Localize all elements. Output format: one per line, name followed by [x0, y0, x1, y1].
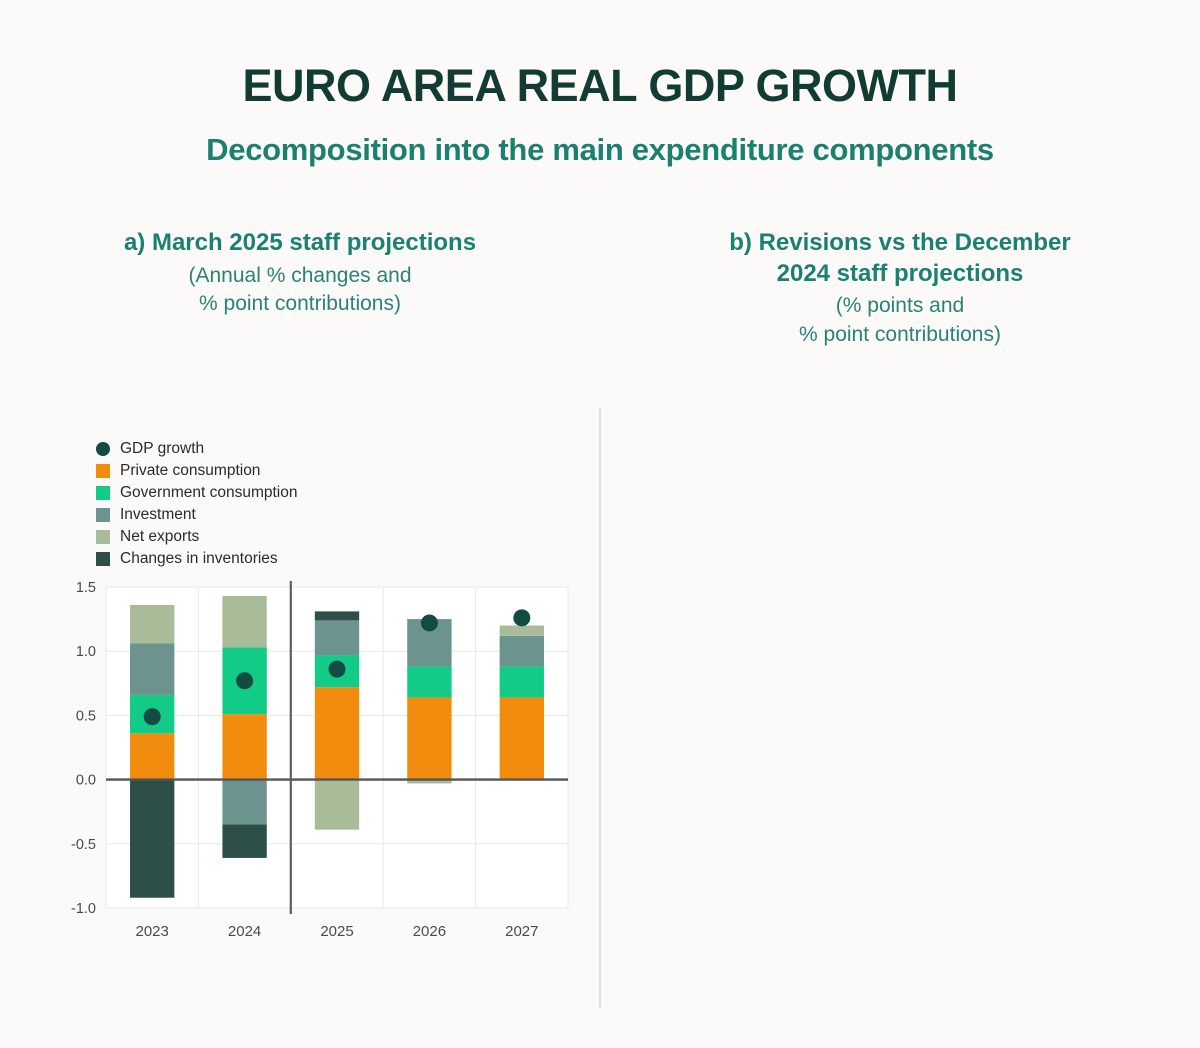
legend-item-label: Government consumption [120, 484, 297, 502]
bar-segment [500, 697, 544, 779]
panel-a: a) March 2025 staff projections (Annual … [0, 0, 600, 1048]
panel-b-subtitle-line2: % point contributions) [600, 321, 1200, 349]
panel-b-title: b) Revisions vs the December 2024 staff … [600, 228, 1200, 289]
bar-segment [130, 733, 174, 779]
legend-square-icon [96, 552, 110, 566]
x-axis-tick-label: 2027 [505, 923, 538, 940]
bar-segment [500, 636, 544, 667]
legend-panel-a: GDP growthPrivate consumptionGovernment … [96, 438, 297, 570]
legend-item-label: Changes in inventories [120, 550, 278, 568]
panel-b-heading: b) Revisions vs the December 2024 staff … [600, 228, 1200, 349]
x-axis-tick-label: 2023 [136, 923, 169, 940]
infographic-root: EURO AREA REAL GDP GROWTH Decomposition … [0, 0, 1200, 1048]
bar-segment [315, 687, 359, 779]
bar-segment [315, 611, 359, 620]
legend-item-label: GDP growth [120, 440, 204, 458]
bar-segment [500, 626, 544, 636]
bar-segment [222, 714, 266, 779]
bar-segment [130, 643, 174, 694]
legend-item-label: Net exports [120, 528, 199, 546]
panel-a-subtitle-line2: % point contributions) [0, 290, 600, 318]
y-axis-tick-label: -1.0 [71, 901, 96, 917]
legend-square-icon [96, 464, 110, 478]
bar-segment [407, 667, 451, 698]
x-axis-tick-label: 2025 [320, 923, 353, 940]
x-axis-tick-label: 2024 [228, 923, 261, 940]
y-axis-tick-label: 0.5 [76, 708, 96, 724]
legend-item: Private consumption [96, 460, 297, 482]
bar-segment [222, 825, 266, 858]
bar-segment [130, 605, 174, 644]
panel-a-subtitle-line1: (Annual % changes and [0, 262, 600, 290]
panel-b-subtitle-line1: (% points and [600, 292, 1200, 320]
legend-square-icon [96, 486, 110, 500]
legend-item: Government consumption [96, 482, 297, 504]
legend-square-icon [96, 530, 110, 544]
legend-item-label: Private consumption [120, 462, 260, 480]
bar-segment [315, 780, 359, 830]
panel-a-heading: a) March 2025 staff projections (Annual … [0, 228, 600, 318]
gdp-growth-marker [329, 661, 346, 678]
gdp-growth-marker [513, 609, 530, 626]
bar-segment [407, 697, 451, 779]
chart-svg-a: 1.51.00.50.0-0.5-1.020232024202520262027 [40, 575, 580, 950]
panel-b-title-line2: 2024 staff projections [600, 259, 1200, 290]
legend-item: Changes in inventories [96, 548, 297, 570]
panel-a-subtitle: (Annual % changes and % point contributi… [0, 262, 600, 319]
legend-item: Investment [96, 504, 297, 526]
gdp-growth-marker [144, 708, 161, 725]
y-axis-tick-label: 1.0 [76, 644, 96, 660]
x-axis-tick-label: 2026 [413, 923, 446, 940]
y-axis-tick-label: -0.5 [71, 837, 96, 853]
bar-segment [500, 667, 544, 698]
legend-dot-icon [96, 442, 110, 456]
legend-square-icon [96, 508, 110, 522]
legend-item-label: Investment [120, 506, 196, 524]
bar-segment [130, 780, 174, 898]
panel-a-title: a) March 2025 staff projections [0, 228, 600, 259]
bar-segment [222, 780, 266, 825]
panel-b-subtitle: (% points and % point contributions) [600, 292, 1200, 349]
bar-segment [315, 620, 359, 655]
chart-panel-a: 1.51.00.50.0-0.5-1.020232024202520262027 [40, 575, 580, 950]
panel-b: b) Revisions vs the December 2024 staff … [600, 0, 1200, 1048]
legend-item: Net exports [96, 526, 297, 548]
gdp-growth-marker [236, 672, 253, 689]
bar-segment [222, 596, 266, 647]
y-axis-tick-label: 0.0 [76, 773, 96, 789]
gdp-growth-marker [421, 614, 438, 631]
panel-b-title-line1: b) Revisions vs the December [600, 228, 1200, 259]
legend-item: GDP growth [96, 438, 297, 460]
y-axis-tick-label: 1.5 [76, 580, 96, 596]
